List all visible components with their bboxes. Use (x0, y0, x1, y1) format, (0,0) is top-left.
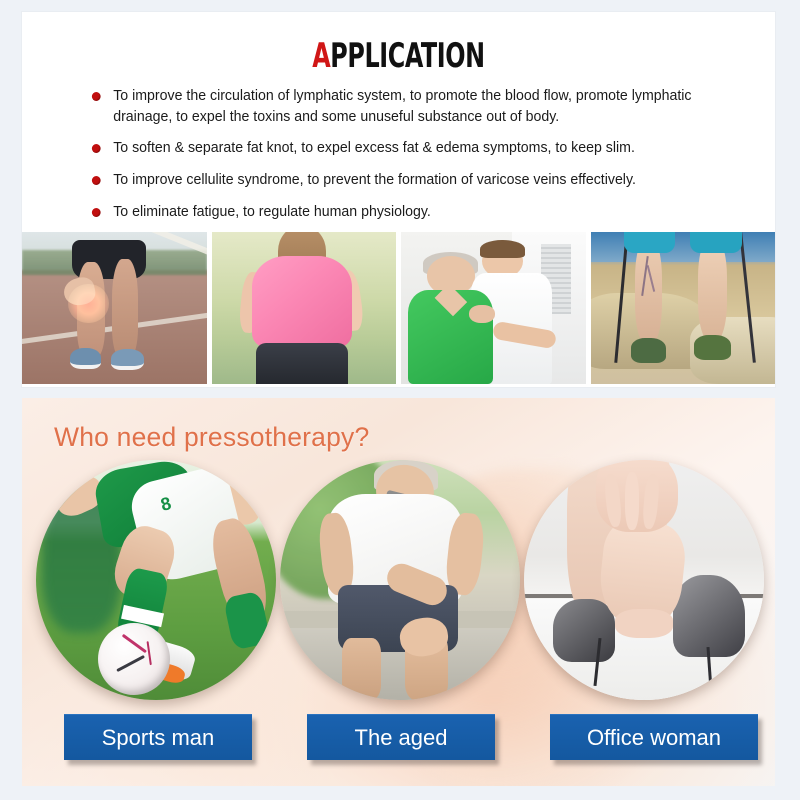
photo-strip (22, 232, 775, 384)
bullet-dot-icon (92, 92, 101, 101)
elderly-therapy-photo (401, 232, 586, 384)
soccer-player-photo: 8 (36, 460, 276, 700)
varicose-veins-legs-photo (591, 232, 776, 384)
section-title: Who need pressotherapy? (54, 422, 369, 453)
list-item: To eliminate fatigue, to regulate human … (88, 202, 728, 223)
list-item: To improve cellulite syndrome, to preven… (88, 170, 728, 191)
who-need-pressotherapy-card: Who need pressotherapy? 8 (22, 398, 775, 786)
label-sports-man[interactable]: Sports man (64, 714, 252, 760)
bullet-dot-icon (92, 208, 101, 217)
label-the-aged[interactable]: The aged (307, 714, 495, 760)
runner-knee-pain-photo (22, 232, 207, 384)
page-title: APPLICATION (105, 36, 692, 76)
bullet-text: To eliminate fatigue, to regulate human … (113, 204, 431, 220)
circle-image-row: 8 (22, 460, 775, 708)
office-woman-feet-photo (524, 460, 764, 700)
page-title-rest: PPLICATION (330, 36, 484, 76)
page-title-lead-letter: A (312, 36, 330, 76)
bullet-text: To soften & separate fat knot, to expel … (113, 140, 635, 156)
woman-back-pain-photo (212, 232, 397, 384)
application-bullet-list: To improve the circulation of lymphatic … (88, 86, 748, 234)
bullet-dot-icon (92, 144, 101, 153)
list-item: To soften & separate fat knot, to expel … (88, 138, 728, 159)
bullet-dot-icon (92, 176, 101, 185)
list-item: To improve the circulation of lymphatic … (88, 86, 728, 127)
category-label-row: Sports man The aged Office woman (22, 714, 775, 766)
bullet-text: To improve the circulation of lymphatic … (113, 88, 691, 125)
label-office-woman[interactable]: Office woman (550, 714, 758, 760)
bullet-text: To improve cellulite syndrome, to preven… (113, 172, 636, 188)
elderly-knee-pain-photo (280, 460, 520, 700)
